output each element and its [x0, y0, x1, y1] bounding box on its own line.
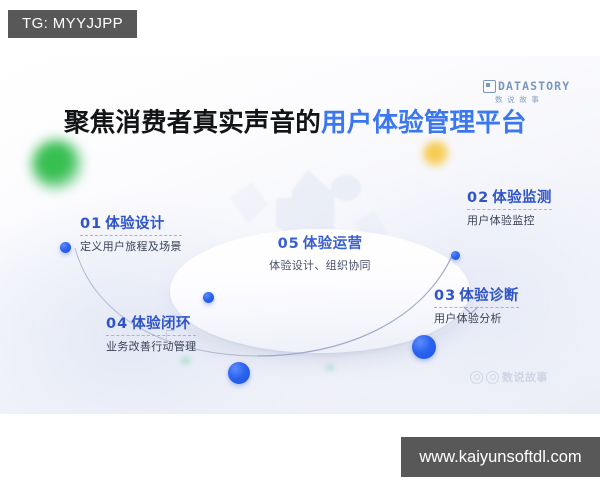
title-black-part: 聚焦消费者真实声音的 — [64, 108, 321, 138]
feature-rule-03 — [434, 307, 519, 308]
feature-title-02: 体验监测 — [492, 190, 552, 206]
watermark-text: 数说故事 — [502, 369, 548, 385]
feature-title-04: 体验闭环 — [131, 316, 191, 332]
feature-number-05: 05 — [278, 236, 300, 252]
at-icon — [486, 371, 499, 384]
website-url-tag: www.kaiyunsoftdl.com — [401, 437, 600, 477]
logo-chinese-name: 数说故事 — [483, 94, 575, 105]
feature-title-05: 体验运营 — [303, 236, 363, 252]
slide-screenshot: 聚焦消费者真实声音的用户体验管理平台 DATASTORY 数说故事 01体验设计… — [0, 0, 600, 480]
weibo-icon — [470, 371, 483, 384]
datastory-logo: DATASTORY 数说故事 — [483, 79, 575, 105]
feature-item-02: 02体验监测 用户体验监控 — [467, 186, 552, 228]
node-dot-01 — [60, 242, 71, 253]
logo-mark-icon — [483, 80, 496, 93]
watermark: 数说故事 — [470, 369, 548, 385]
feature-rule-02 — [467, 209, 552, 210]
feature-subtitle-05: 体验设计、组织协同 — [258, 257, 382, 273]
feature-number-04: 04 — [106, 316, 128, 332]
node-dot-05 — [203, 292, 214, 303]
feature-heading-03: 03体验诊断 — [434, 284, 519, 305]
feature-subtitle-04: 业务改善行动管理 — [106, 338, 196, 354]
feature-number-01: 01 — [80, 216, 102, 232]
feature-item-03: 03体验诊断 用户体验分析 — [434, 284, 519, 326]
feature-item-05: 05体验运营 体验设计、组织协同 — [258, 232, 382, 273]
feature-rule-01 — [80, 235, 182, 236]
feature-item-01: 01体验设计 定义用户旅程及场景 — [80, 212, 182, 254]
feature-subtitle-03: 用户体验分析 — [434, 310, 519, 326]
logo-wordmark: DATASTORY — [498, 79, 570, 93]
feature-heading-04: 04体验闭环 — [106, 312, 196, 333]
feature-subtitle-01: 定义用户旅程及场景 — [80, 238, 182, 254]
feature-item-04: 04体验闭环 业务改善行动管理 — [106, 312, 196, 354]
feature-subtitle-02: 用户体验监控 — [467, 212, 552, 228]
feature-number-02: 02 — [467, 190, 489, 206]
feature-title-01: 体验设计 — [105, 216, 165, 232]
title-blue-part: 用户体验管理平台 — [321, 108, 527, 138]
feature-heading-01: 01体验设计 — [80, 212, 182, 233]
feature-number-03: 03 — [434, 288, 456, 304]
feature-heading-02: 02体验监测 — [467, 186, 552, 207]
feature-heading-05: 05体验运营 — [258, 232, 382, 253]
node-dot-02 — [451, 251, 460, 260]
poster-panel: 聚焦消费者真实声音的用户体验管理平台 DATASTORY 数说故事 01体验设计… — [0, 56, 600, 414]
node-dot-04 — [228, 362, 250, 384]
feature-title-03: 体验诊断 — [459, 288, 519, 304]
telegram-handle-tag: TG: MYYJJPP — [8, 10, 137, 38]
feature-rule-04 — [106, 335, 196, 336]
node-dot-03 — [412, 335, 436, 359]
page-title: 聚焦消费者真实声音的用户体验管理平台 — [64, 111, 527, 137]
